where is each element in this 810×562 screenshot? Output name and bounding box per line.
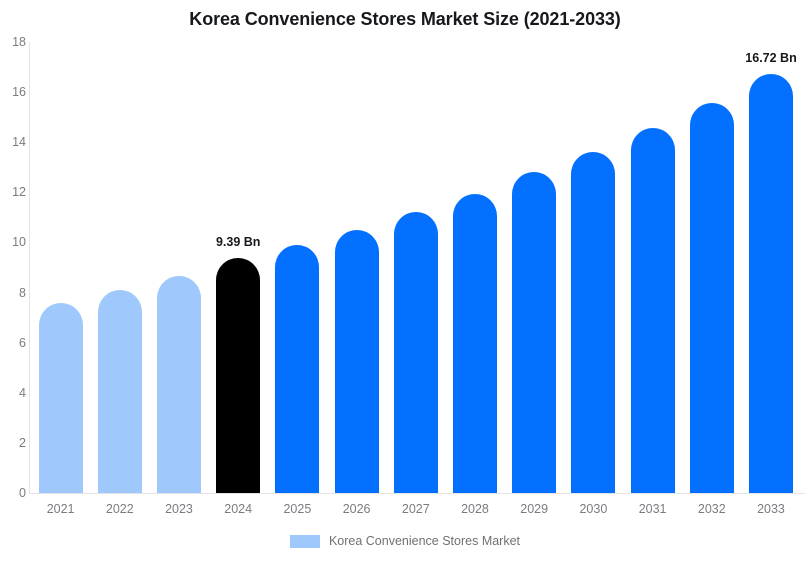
x-tick-label-2030: 2030 <box>564 502 623 516</box>
legend-swatch-icon <box>290 535 320 548</box>
bar-2021[interactable] <box>39 303 83 493</box>
y-tick-label-14: 14 <box>2 135 26 149</box>
bar-2028[interactable] <box>453 194 497 493</box>
bar-value-label-2033: 16.72 Bn <box>745 51 796 65</box>
x-tick-label-2022: 2022 <box>90 502 149 516</box>
bar-2032[interactable] <box>690 103 734 493</box>
x-axis-line <box>29 493 805 494</box>
y-tick-label-18: 18 <box>2 35 26 49</box>
bar-2029[interactable] <box>512 172 556 493</box>
y-tick-label-0: 0 <box>2 486 26 500</box>
y-axis-tick-labels: 024681012141618 <box>0 0 26 562</box>
chart-legend: Korea Convenience Stores Market <box>0 534 810 548</box>
bar-2025[interactable] <box>275 245 319 493</box>
bar-2024[interactable] <box>216 258 260 493</box>
x-tick-label-2026: 2026 <box>327 502 386 516</box>
x-tick-label-2021: 2021 <box>31 502 90 516</box>
bar-2027[interactable] <box>394 212 438 493</box>
bar-value-label-2024: 9.39 Bn <box>216 235 260 249</box>
x-tick-label-2023: 2023 <box>149 502 208 516</box>
bar-2033[interactable] <box>749 74 793 493</box>
legend-label: Korea Convenience Stores Market <box>329 534 520 548</box>
y-tick-label-6: 6 <box>2 336 26 350</box>
x-tick-label-2032: 2032 <box>682 502 741 516</box>
x-tick-label-2028: 2028 <box>445 502 504 516</box>
bar-2026[interactable] <box>335 230 379 493</box>
y-tick-label-4: 4 <box>2 386 26 400</box>
plot-area <box>29 42 804 493</box>
x-tick-label-2029: 2029 <box>505 502 564 516</box>
bar-2030[interactable] <box>571 152 615 493</box>
y-tick-label-2: 2 <box>2 436 26 450</box>
y-tick-label-12: 12 <box>2 185 26 199</box>
chart-title: Korea Convenience Stores Market Size (20… <box>0 9 810 30</box>
y-tick-label-8: 8 <box>2 286 26 300</box>
x-tick-label-2031: 2031 <box>623 502 682 516</box>
chart-container: Korea Convenience Stores Market Size (20… <box>0 0 810 562</box>
x-tick-label-2024: 2024 <box>209 502 268 516</box>
y-tick-label-16: 16 <box>2 85 26 99</box>
bar-2023[interactable] <box>157 276 201 493</box>
x-tick-label-2025: 2025 <box>268 502 327 516</box>
x-tick-label-2027: 2027 <box>386 502 445 516</box>
bar-2022[interactable] <box>98 290 142 493</box>
bar-2031[interactable] <box>631 128 675 493</box>
y-tick-label-10: 10 <box>2 235 26 249</box>
x-tick-label-2033: 2033 <box>741 502 800 516</box>
